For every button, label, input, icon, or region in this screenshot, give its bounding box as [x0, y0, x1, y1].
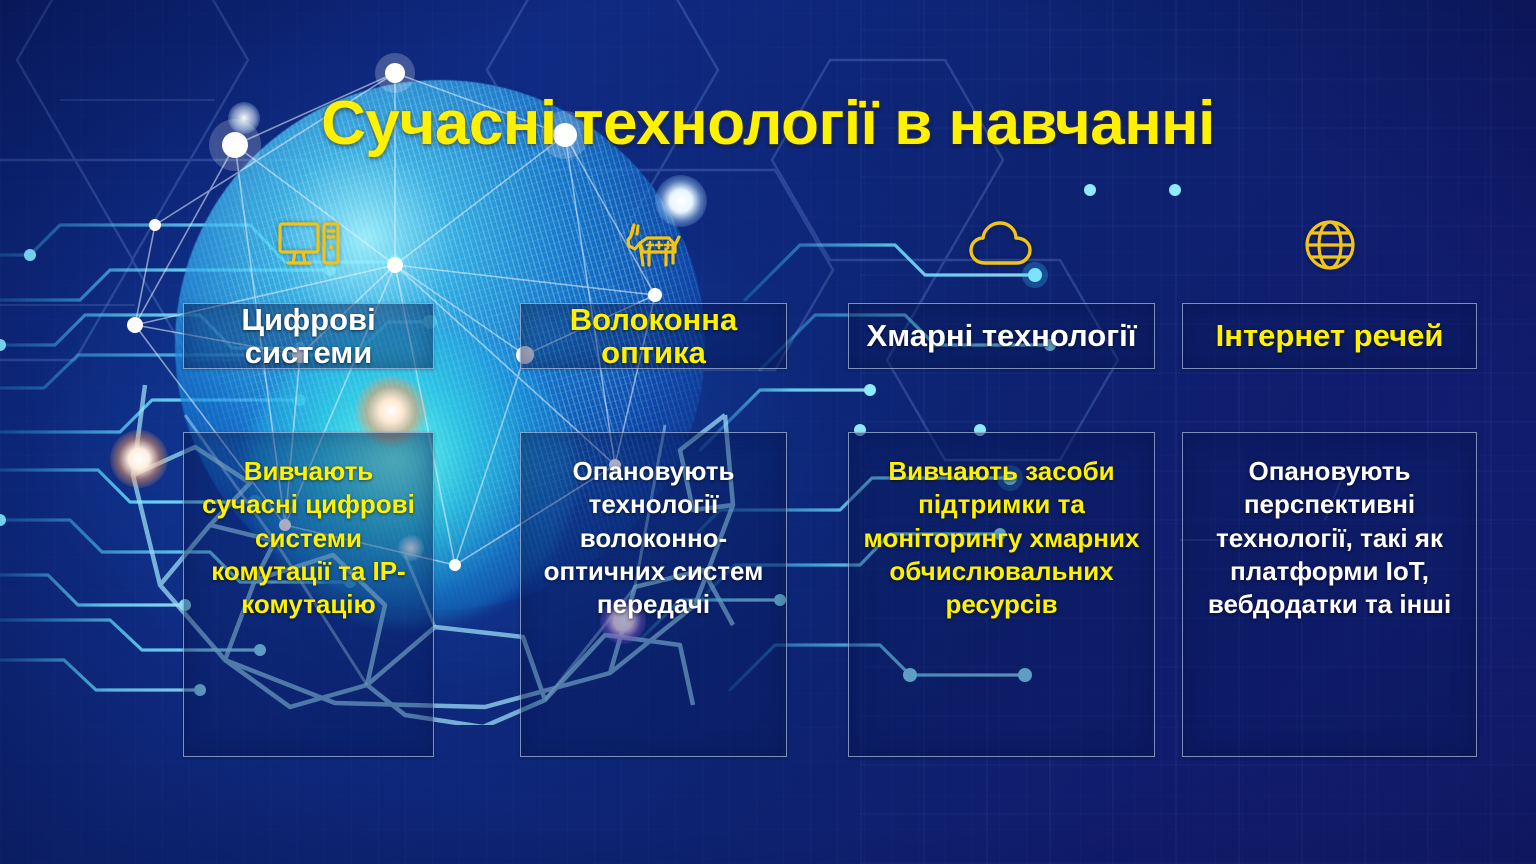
column-header-cloud-technologies: Хмарні технології	[848, 303, 1155, 369]
cloud-icon	[848, 210, 1155, 280]
column-header-digital-systems: Цифрові системи	[183, 303, 434, 369]
column-body-internet-of-things: Опановують перспективні технології, такі…	[1182, 432, 1477, 757]
desktop-computer-icon	[183, 210, 434, 280]
page-title: Сучасні технології в навчанні	[0, 88, 1536, 159]
column-body-digital-systems: Вивчають сучасні цифрові системи комутац…	[183, 432, 434, 757]
globe-grid-icon	[1182, 210, 1477, 280]
column-body-cloud-technologies: Вивчають засоби підтримки та моніторингу…	[848, 432, 1155, 757]
column-body-fiber-optics: Опановують технології волоконно-оптичних…	[520, 432, 787, 757]
column-header-fiber-optics: Волоконна оптика	[520, 303, 787, 369]
slide-canvas: Сучасні технології в навчанні Цифрові си…	[0, 0, 1536, 864]
column-header-internet-of-things: Інтернет речей	[1182, 303, 1477, 369]
donkey-icon	[520, 210, 787, 280]
